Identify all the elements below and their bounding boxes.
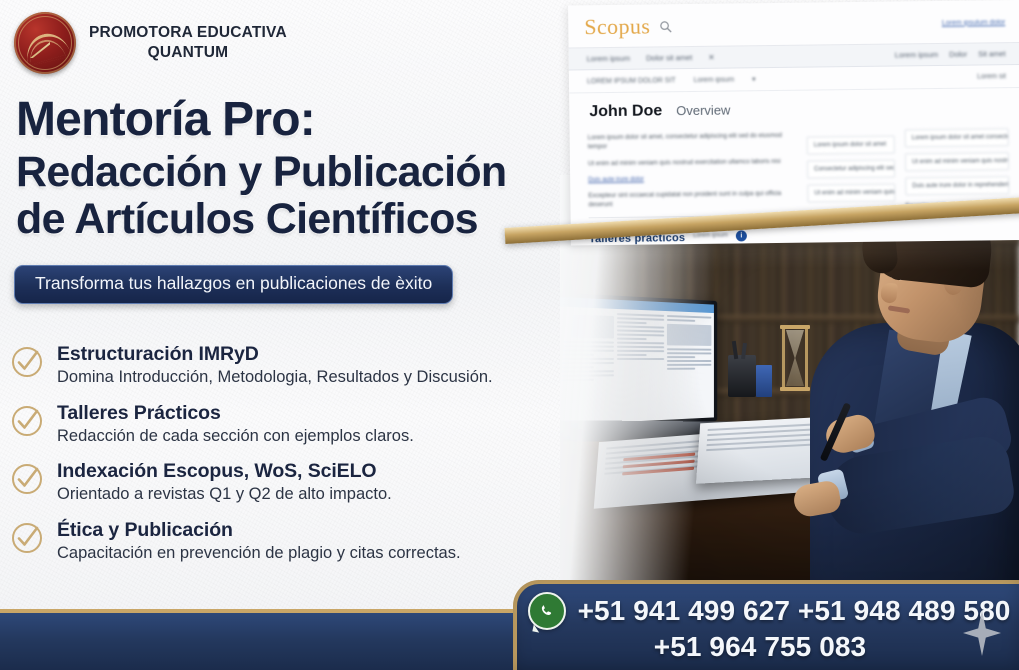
scopus-nav-right-0[interactable]: Lorem ipsum [895,50,938,60]
scopus-profile-tab[interactable]: Overview [676,103,730,119]
quantum-emblem-icon [14,12,76,74]
scopus-subbar-right[interactable]: Lorem sit [977,73,1006,80]
scopus-body-link[interactable]: Duis aute irure dolor [588,173,797,185]
phone-numbers-line-1[interactable]: +51 941 499 627 +51 948 489 580 [578,595,1011,627]
brand-name-line1: PROMOTORA EDUCATIVA [89,23,287,43]
list-item: Estructuración IMRyD Domina Introducción… [10,342,600,388]
whatsapp-icon[interactable] [528,592,566,630]
chevron-down-icon[interactable]: ▾ [752,75,756,83]
tagline-badge: Transforma tus hallazgos en publicacione… [14,265,453,304]
title-line-2: Redacción y Publicación [16,151,546,194]
list-item: Indexación Escopus, WoS, SciELO Orientad… [10,459,600,505]
feature-title: Talleres Prácticos [57,402,414,425]
feature-description: Redacción de cada sección con ejemplos c… [57,426,414,447]
check-circle-icon [10,345,44,379]
scopus-nav-tab-0[interactable]: Lorem ipsum [587,54,630,64]
brand-header: PROMOTORA EDUCATIVA QUANTUM [14,12,287,74]
scopus-side-cards: Lorem ipsum dolor sit amet Consectetur a… [807,126,897,246]
feature-description: Domina Introducción, Metodologia, Result… [57,367,493,388]
scopus-subbar-select[interactable]: Lorem ipsum [694,76,735,83]
title-line-1: Mentoría Pro: [16,96,546,144]
scopus-nav-right-2[interactable]: Sit amet [978,49,1006,58]
scopus-side-card-1[interactable]: Consectetur adipiscing elit sed [807,160,895,179]
feature-title: Estructuración IMRyD [57,343,493,366]
scopus-nav-tab-1[interactable]: Dolor sit amet [646,53,692,63]
scopus-side-card-0[interactable]: Lorem ipsum dolor sit amet [807,136,895,155]
scopus-body-line-0: Lorem ipsum dolor sit amet, consectetur … [588,131,797,152]
phone-numbers-line-2[interactable]: +51 964 755 083 [654,631,866,663]
search-icon[interactable] [659,20,672,33]
contact-block: +51 941 499 627 +51 948 489 580 +51 964 … [513,584,1019,670]
scopus-section-hint: Lorem ipsum [693,233,728,239]
list-item: Ética y Publicación Capacitación en prev… [10,518,600,564]
footer-bar-left [0,609,545,670]
scopus-right-card-1[interactable]: Ut enim ad minim veniam quis nostrud [905,152,1009,171]
scopus-nav-right-1[interactable]: Dolor [949,50,967,59]
list-item: Talleres Prácticos Redacción de cada sec… [10,401,600,447]
feature-list: Estructuración IMRyD Domina Introducción… [10,342,600,577]
feature-title: Indexación Escopus, WoS, SciELO [57,460,392,483]
feature-description: Orientado a revistas Q1 y Q2 de alto imp… [57,484,392,505]
check-circle-icon [10,404,44,438]
scopus-right-card-2[interactable]: Duis aute irure dolor in reprehenderit [905,176,1009,195]
title-line-3: de Artículos Científicos [16,198,546,241]
scopus-profile-name: John Doe [589,102,662,121]
scopus-right-card-0[interactable]: Lorem ipsum dolor sit amet consectetur [905,128,1009,147]
scopus-logo: Scopus [584,14,650,41]
close-icon[interactable]: ✕ [708,53,714,62]
scopus-profile-header: John Doe Overview [569,88,1019,130]
check-circle-icon [10,521,44,555]
page-title: Mentoría Pro: Redacción y Publicación de… [16,96,546,241]
brand-name: PROMOTORA EDUCATIVA QUANTUM [89,23,287,63]
scopus-topbar: Scopus Lorem ipsulum dolor [568,0,1019,49]
scopus-body-line-3: Excepteur sint occaecat cupidatat non pr… [588,189,797,210]
brand-name-line2: QUANTUM [89,43,287,63]
scopus-subbar-label: LOREM IPSUM DOLOR SIT [587,77,676,85]
feature-title: Ética y Publicación [57,519,461,542]
scopus-right-cards: Lorem ipsum dolor sit amet consectetur U… [905,124,1011,245]
check-circle-icon [10,462,44,496]
info-icon[interactable]: i [736,230,747,241]
scopus-top-link[interactable]: Lorem ipsulum dolor [942,19,1006,27]
scopus-body-line-1: Ut enim ad minim veniam quis nostrud exe… [588,156,797,168]
scopus-side-card-2[interactable]: Ut enim ad minim veniam quis [807,184,895,203]
feature-description: Capacitación en prevención de plagio y c… [57,543,461,564]
promotional-poster: Scopus Lorem ipsulum dolor Lorem ipsum D… [0,0,1019,670]
